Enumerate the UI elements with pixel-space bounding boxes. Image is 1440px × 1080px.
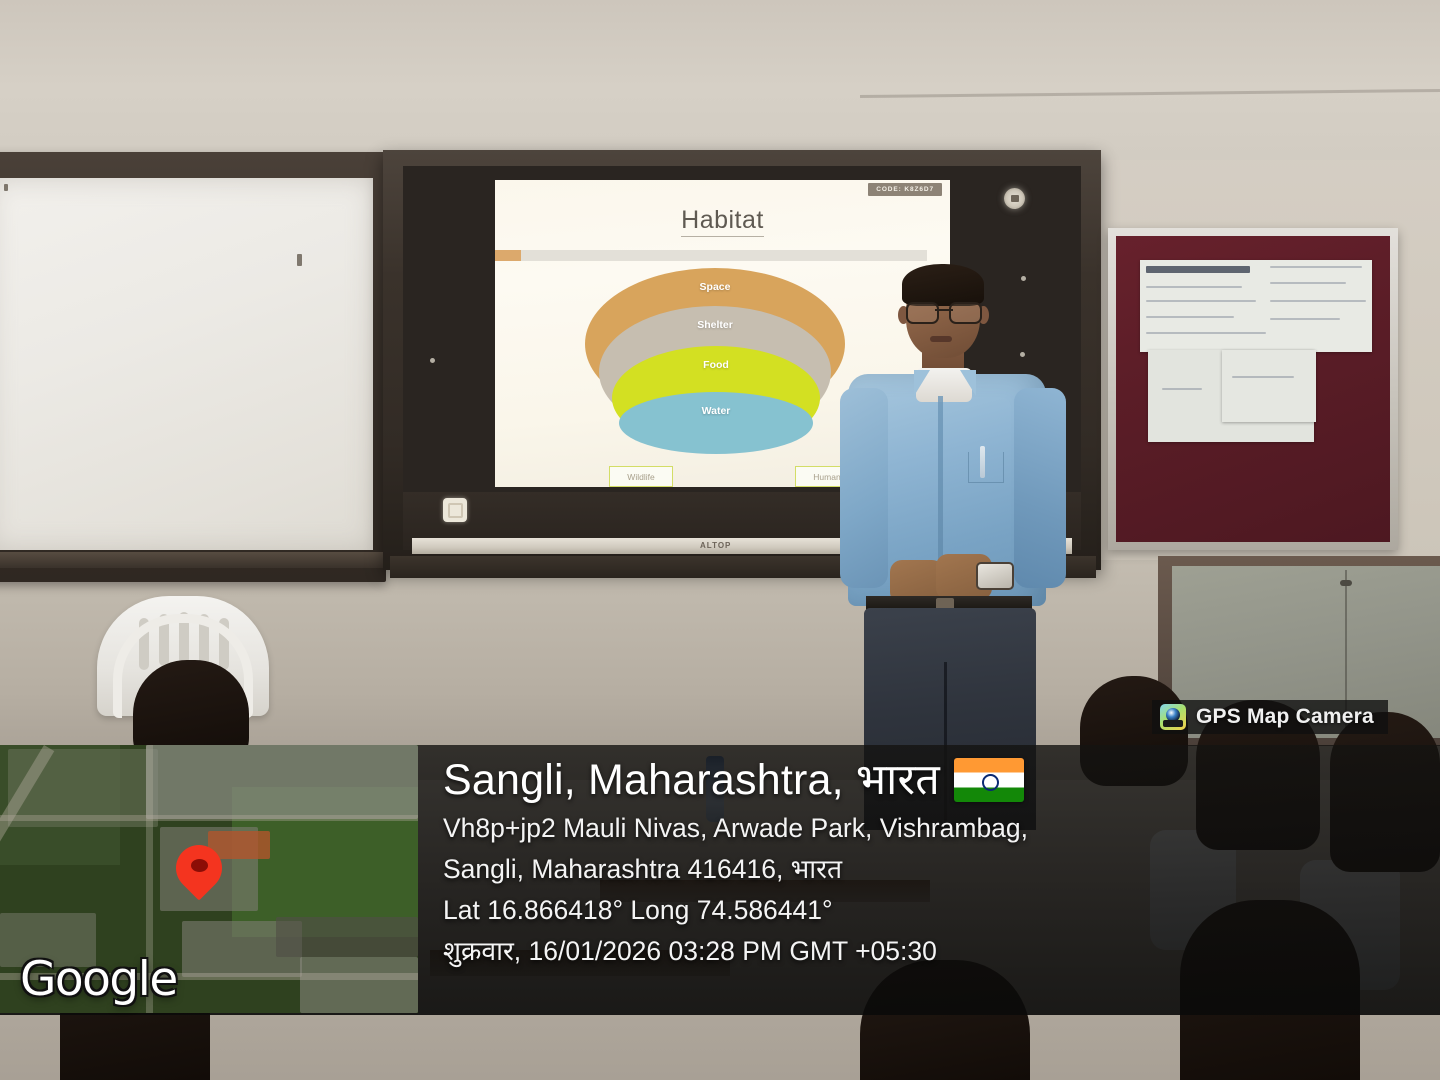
- notice-handwriting-line: [1232, 376, 1294, 378]
- gps-coordinates: Lat 16.866418° Long 74.586441°: [443, 890, 1433, 931]
- presenter-hair: [902, 264, 984, 306]
- slide-title-text: Habitat: [681, 206, 764, 237]
- presenter-sleeve-left: [840, 388, 888, 588]
- slide-divider-accent: [495, 250, 521, 261]
- display-brand-label: ALTOP: [700, 541, 731, 550]
- ashoka-chakra-icon: [982, 774, 999, 791]
- habitat-venn-diagram: Space Shelter Food Water: [557, 268, 887, 468]
- upper-wall: [0, 0, 1440, 160]
- gps-camera-app-icon: [1160, 704, 1186, 730]
- google-watermark: Google: [20, 952, 177, 1007]
- gps-timestamp: शुक्रवार, 16/01/2026 03:28 PM GMT +05:30: [443, 931, 1433, 972]
- gps-address-line-2: Sangli, Maharashtra 416416, भारत: [443, 849, 1433, 890]
- notice-handwriting-line: [1146, 316, 1234, 318]
- classroom-presentation-photo: CODE: K8Z6D7 Habitat Space Shelter Food …: [0, 0, 1440, 1080]
- venn-layer-water: Water: [619, 392, 813, 454]
- notice-handwriting-line: [1270, 318, 1340, 320]
- gps-map-camera-badge: GPS Map Camera: [1152, 700, 1388, 734]
- gps-place-line: Sangli, Maharashtra, भारत: [443, 752, 1433, 808]
- whiteboard-marker-tray: [0, 552, 386, 568]
- notice-handwriting-line: [1270, 282, 1346, 284]
- venn-label-water: Water: [702, 405, 731, 454]
- notice-handwriting-line: [1146, 300, 1256, 302]
- notice-paper: [1222, 350, 1316, 422]
- gps-map-camera-label: GPS Map Camera: [1196, 705, 1374, 729]
- slide-title: Habitat: [495, 206, 950, 235]
- india-flag-icon: [954, 758, 1024, 802]
- whiteboard-smudge: [4, 184, 8, 191]
- presenter-eyeglasses: [906, 302, 982, 321]
- notice-handwriting-line: [1146, 286, 1242, 288]
- whiteboard-surface: [0, 178, 373, 550]
- presenter-sleeve-right: [1014, 388, 1066, 588]
- slide-tag-wildlife: Wildlife: [609, 466, 673, 487]
- display-sensor: [430, 358, 435, 363]
- notice-paper: [1140, 260, 1372, 352]
- map-location-pin: [176, 845, 222, 907]
- gps-place-text: Sangli, Maharashtra, भारत: [443, 752, 940, 808]
- gps-address-line-1: Vh8p+jp2 Mauli Nivas, Arwade Park, Vishr…: [443, 808, 1433, 849]
- presenter-mouth: [930, 336, 952, 342]
- notice-handwriting-line: [1270, 266, 1362, 268]
- notice-handwritten-title: [1146, 266, 1250, 273]
- map-pin-dot: [191, 859, 208, 872]
- slide-divider-bar: [517, 250, 927, 261]
- wall-cabinet-handle[interactable]: [1340, 580, 1352, 586]
- presenter-collar: [914, 370, 976, 400]
- whiteboard-smudge: [297, 254, 302, 266]
- notice-handwriting-line: [1146, 332, 1266, 334]
- notice-handwriting-line: [1162, 388, 1202, 390]
- camera-body-icon: [1163, 720, 1183, 727]
- presenter-wristwatch: [976, 562, 1014, 590]
- display-camera-icon: [1004, 188, 1025, 209]
- gps-text-block: Sangli, Maharashtra, भारत Vh8p+jp2 Mauli…: [443, 752, 1433, 972]
- slide-code-badge: CODE: K8Z6D7: [868, 183, 942, 196]
- notice-handwriting-line: [1270, 300, 1366, 302]
- display-logo-button[interactable]: [443, 498, 467, 522]
- presenter-shirt-pocket: [968, 452, 1004, 483]
- presenter-pocket-pen: [980, 446, 985, 478]
